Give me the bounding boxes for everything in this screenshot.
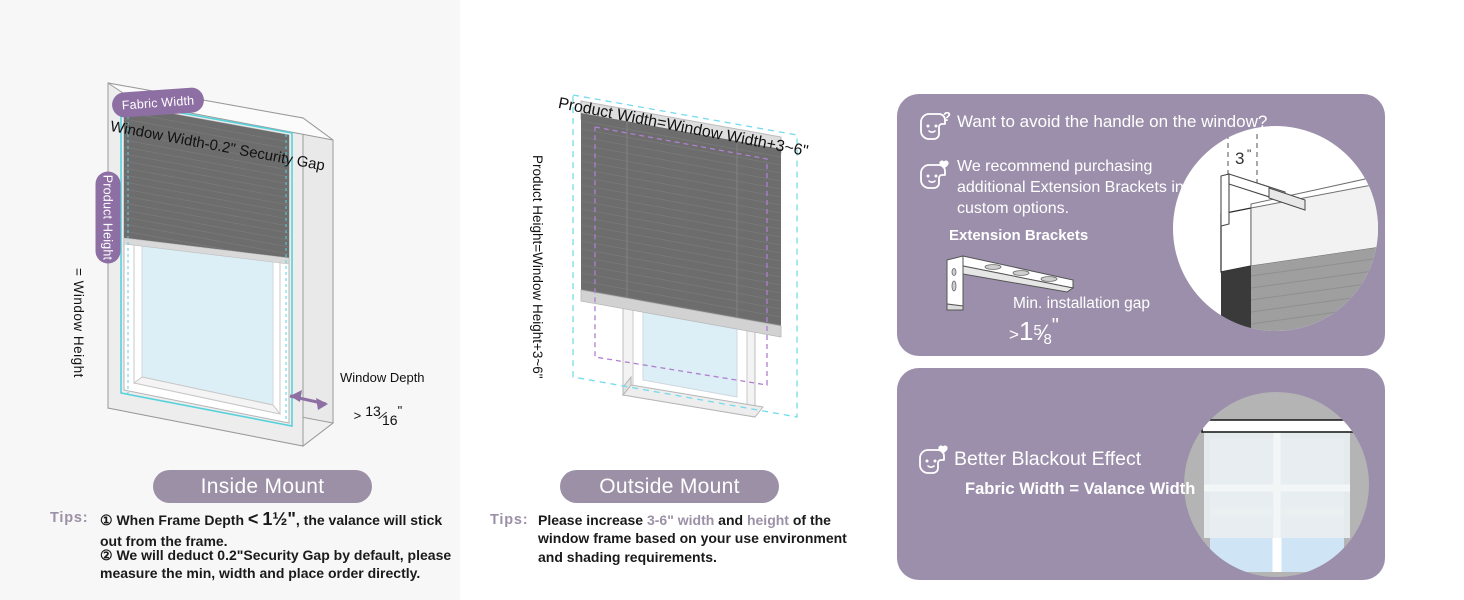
depth-unit: " (398, 403, 403, 418)
blackout-window-illustration (1184, 392, 1369, 577)
outside-tips-label: Tips: (490, 512, 528, 528)
gap-numerator: 5 (1033, 322, 1041, 339)
outside-tips-a: Please increase (538, 512, 647, 528)
inside-tips-label: Tips: (50, 510, 88, 526)
min-installation-gap-label: Min. installation gap (1013, 295, 1150, 313)
panel-outside-mount: Product Width=Window Width+3~6" Product … (460, 0, 880, 600)
window-depth-label: Window Depth (340, 370, 425, 385)
blackout-title: Better Blackout Effect (954, 448, 1141, 471)
recommend-line-1: We recommend purchasing (957, 156, 1184, 177)
depth-denominator: 16 (382, 412, 398, 428)
svg-text:": " (1247, 147, 1251, 161)
inside-tips-item-2: ② We will deduct 0.2"Security Gap by def… (100, 546, 480, 583)
extension-brackets-title: Extension Brackets (949, 227, 1088, 244)
left-side-dimension-label: = Window Height (71, 268, 86, 378)
depth-gt-symbol: > (354, 408, 362, 423)
infographic-root: Window Width-0.2" Security Gap = Window … (0, 0, 1464, 600)
panel-tips-cards: 3 " (880, 0, 1464, 600)
tips-2-line2: measure the min, width and place order d… (100, 565, 420, 581)
gap-gt-symbol: > (1009, 325, 1019, 344)
outside-tips-line3: and shading requirements. (538, 549, 717, 565)
svg-text:?: ? (943, 110, 951, 124)
outside-tips-hl-width: 3-6" width (647, 512, 714, 528)
tips-1-fraction: 1½" (262, 509, 296, 529)
badge-product-height: Product Height (96, 172, 121, 264)
outside-tips-c: of the (789, 512, 831, 528)
gap-whole: 1 (1019, 316, 1033, 346)
gap-unit: " (1052, 315, 1059, 337)
question-face-icon: ? (917, 110, 955, 144)
inside-mount-title: Inside Mount (153, 470, 372, 503)
card-top-question: Want to avoid the handle on the window? (957, 112, 1267, 132)
svg-text:3: 3 (1235, 149, 1244, 168)
card-top-recommend: We recommend purchasing additional Exten… (957, 156, 1184, 219)
tips-1-text-b: , the valance will stick (296, 512, 442, 528)
gap-denominator: 8 (1043, 331, 1051, 348)
inside-tips-item-1: ① When Frame Depth < 1½", the valance wi… (100, 508, 450, 550)
outside-tips-body: Please increase 3-6" width and height of… (538, 511, 868, 566)
card-blackout-effect: Better Blackout Effect Fabric Width = Va… (897, 368, 1385, 580)
recommend-line-2: additional Extension Brackets in (957, 177, 1184, 198)
window-depth-value: >13⁄16" (332, 392, 402, 438)
outside-tips-hl-height: height (747, 512, 789, 528)
tips-1-text-a: ① When Frame Depth (100, 512, 248, 528)
mid-side-dimension-label: Product Height=Window Height+3~6" (530, 155, 545, 379)
recommend-line-3: custom options. (957, 198, 1184, 219)
panel-inside-mount: Window Width-0.2" Security Gap = Window … (0, 0, 460, 600)
outside-tips-b: and (714, 512, 747, 528)
tips-1-lt: < (248, 509, 259, 529)
depth-numerator: 13 (365, 403, 381, 419)
handle-avoidance-illustration: 3 " (1173, 126, 1378, 331)
outside-mount-title: Outside Mount (560, 470, 779, 503)
outside-tips-line2: window frame based on your use environme… (538, 530, 847, 546)
heart-face-icon-top (917, 159, 955, 193)
heart-face-icon-bottom (916, 444, 954, 478)
tips-2-line1: ② We will deduct 0.2"Security Gap by def… (100, 547, 451, 563)
blackout-subtitle: Fabric Width = Valance Width (965, 480, 1195, 499)
card-extension-brackets: 3 " (897, 94, 1385, 356)
min-installation-gap-value: >15⁄8" (1009, 316, 1059, 347)
